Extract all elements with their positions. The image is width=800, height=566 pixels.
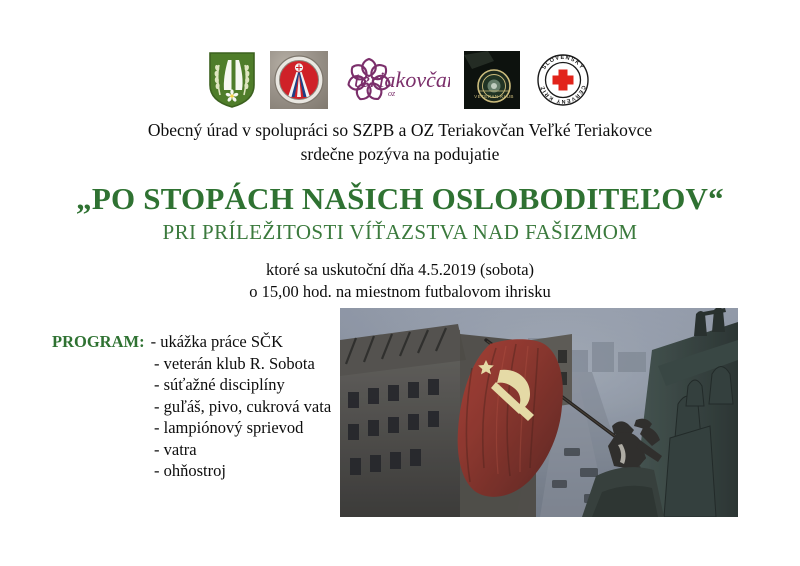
program-label: PROGRAM: <box>52 331 151 353</box>
veteran-klub-badge-icon: VETERAN KLUB <box>464 51 520 109</box>
program-row: - súťažné disciplíny <box>52 374 352 396</box>
logo-strip: teriakovčan oz VETERAN KLUB <box>0 48 800 112</box>
invitation-line-2: srdečne pozýva na podujatie <box>0 142 800 166</box>
program-item: - súťažné disciplíny <box>154 374 285 396</box>
teriakovcan-subscript: oz <box>388 89 396 98</box>
red-cross-icon: SLOVENSKÝ ČERVENÝ KRÍŽ <box>534 51 592 109</box>
event-date-line: ktoré sa uskutoční dňa 4.5.2019 (sobota) <box>0 259 800 281</box>
reichstag-flag-artwork <box>340 308 738 517</box>
program-row: - ohňostroj <box>52 460 352 482</box>
program-item: - guľáš, pivo, cukrová vata <box>154 396 331 418</box>
program-item: - ukážka práce SČK <box>151 331 283 353</box>
program-item: - ohňostroj <box>154 460 226 482</box>
event-time-line: o 15,00 hod. na miestnom futbalovom ihri… <box>0 281 800 303</box>
program-row: - guľáš, pivo, cukrová vata <box>52 396 352 418</box>
poster-sub-title: PRI PRÍLEŽITOSTI VÍŤAZSTVA NAD FAŠIZMOM <box>0 220 800 245</box>
szpb-logo <box>270 51 328 109</box>
veteran-klub-badge-text: VETERAN KLUB <box>474 94 514 99</box>
invitation-text: Obecný úrad v spolupráci so SZPB a OZ Te… <box>0 118 800 166</box>
program-item: - lampiónový sprievod <box>154 417 303 439</box>
program-item: - vatra <box>154 439 197 461</box>
program-item: - veterán klub R. Sobota <box>154 353 315 375</box>
reichstag-flag-illustration <box>340 308 738 517</box>
obec-coat-of-arms-icon <box>208 51 256 109</box>
slovensky-cerveny-kriz-logo: SLOVENSKÝ ČERVENÝ KRÍŽ <box>534 51 592 109</box>
teriakovcan-logo: teriakovčan oz <box>342 51 450 109</box>
poster-main-title: „PO STOPÁCH NAŠICH OSLOBODITEĽOV“ <box>0 181 800 217</box>
invitation-line-1: Obecný úrad v spolupráci so SZPB a OZ Te… <box>0 118 800 142</box>
program-row: - vatra <box>52 439 352 461</box>
szpb-icon <box>270 51 328 109</box>
event-datetime-text: ktoré sa uskutoční dňa 4.5.2019 (sobota)… <box>0 259 800 303</box>
teriakovcan-wordmark: teriakovčan <box>354 67 450 92</box>
veteran-klub-logo: VETERAN KLUB <box>464 51 520 109</box>
obec-coat-of-arms-logo <box>208 51 256 109</box>
program-row: PROGRAM: - ukážka práce SČK <box>52 331 352 353</box>
teriakovcan-flower-icon: teriakovčan oz <box>342 51 450 109</box>
program-row: - veterán klub R. Sobota <box>52 353 352 375</box>
program-block: PROGRAM: - ukážka práce SČK - veterán kl… <box>52 331 352 482</box>
program-row: - lampiónový sprievod <box>52 417 352 439</box>
